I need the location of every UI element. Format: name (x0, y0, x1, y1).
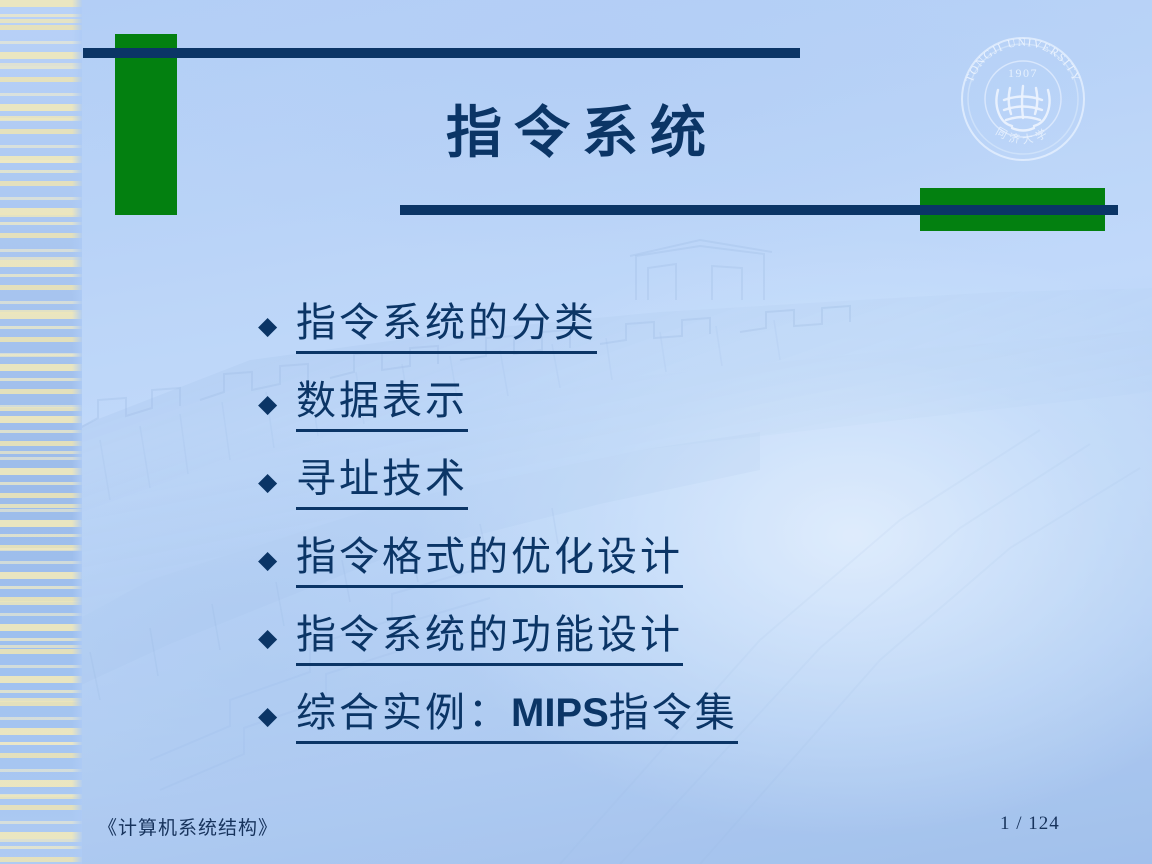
mips-label-prefix: 综合实例： (296, 690, 511, 736)
diamond-bullet-icon: ◆ (258, 625, 296, 650)
list-item[interactable]: ◆ 指令系统的分类 (258, 286, 1118, 364)
navy-rule-bottom (400, 205, 1118, 215)
slide-title: 指令系统 (0, 96, 1152, 170)
diamond-bullet-icon: ◆ (258, 547, 296, 572)
mips-label-suffix: 指令集 (609, 690, 738, 736)
list-item[interactable]: ◆ 综合实例：MIPS指令集 (258, 676, 1118, 754)
diamond-bullet-icon: ◆ (258, 469, 296, 494)
list-item[interactable]: ◆ 寻址技术 (258, 442, 1118, 520)
list-item[interactable]: ◆ 数据表示 (258, 364, 1118, 442)
svg-text:1907: 1907 (1008, 66, 1038, 80)
slide-page-number: 1 / 124 (1000, 813, 1060, 835)
agenda-list: ◆ 指令系统的分类 ◆ 数据表示 ◆ 寻址技术 ◆ 指令格式的优化设计 ◆ 指令… (258, 286, 1118, 754)
agenda-link-data-representation[interactable]: 数据表示 (296, 375, 468, 432)
diamond-bullet-icon: ◆ (258, 313, 296, 338)
agenda-link-format-optimization[interactable]: 指令格式的优化设计 (296, 531, 683, 588)
agenda-link-addressing[interactable]: 寻址技术 (296, 453, 468, 510)
diamond-bullet-icon: ◆ (258, 703, 296, 728)
agenda-link-classification[interactable]: 指令系统的分类 (296, 297, 597, 354)
mips-label-latin: MIPS (511, 691, 609, 735)
list-item[interactable]: ◆ 指令系统的功能设计 (258, 598, 1118, 676)
diamond-bullet-icon: ◆ (258, 391, 296, 416)
presentation-slide: TONGJI UNIVERSITY 1907 同济大学 指令系统 (0, 0, 1152, 864)
agenda-link-mips-case-study[interactable]: 综合实例：MIPS指令集 (296, 687, 738, 744)
footer-course-title: 《计算机系统结构》 (98, 813, 278, 840)
list-item[interactable]: ◆ 指令格式的优化设计 (258, 520, 1118, 598)
navy-rule-top (83, 48, 800, 58)
agenda-link-functional-design[interactable]: 指令系统的功能设计 (296, 609, 683, 666)
